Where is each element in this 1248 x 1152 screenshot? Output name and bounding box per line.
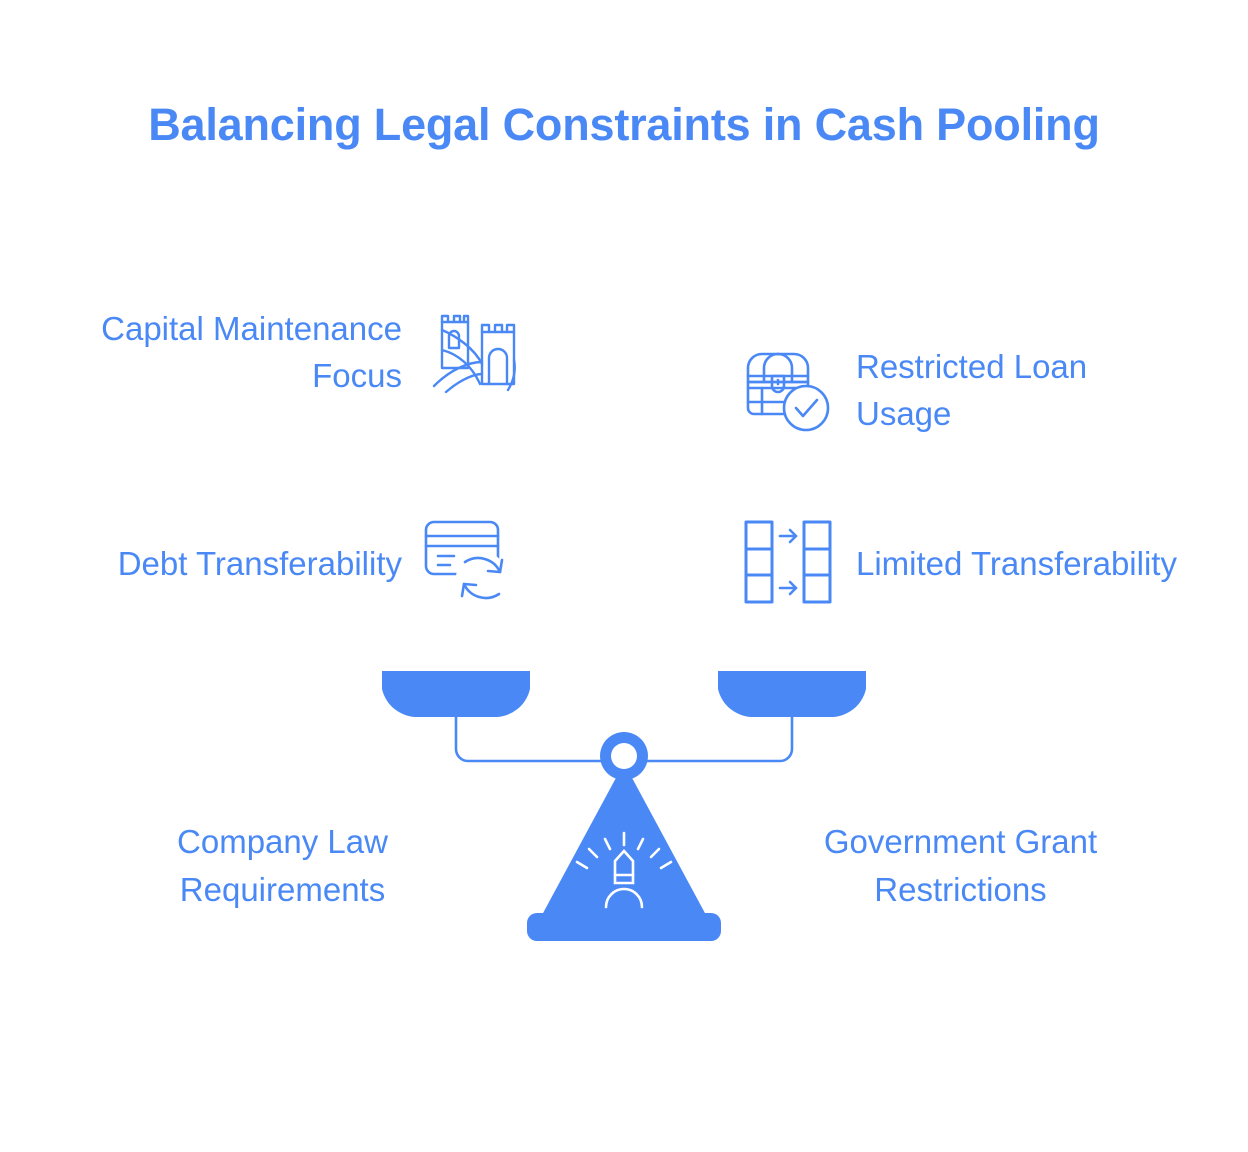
feature-label-capital-maintenance: Capital Maintenance Focus bbox=[100, 306, 402, 400]
feature-label-debt-transfer: Debt Transferability bbox=[118, 541, 402, 588]
feature-item-capital-maintenance: Capital Maintenance Focus bbox=[100, 300, 520, 405]
feature-item-restricted-loan: Restricted Loan Usage bbox=[738, 338, 1178, 443]
feature-label-limited-transfer: Limited Transferability bbox=[856, 541, 1177, 588]
page-title: Balancing Legal Constraints in Cash Pool… bbox=[0, 100, 1248, 150]
column-transfer-arrows-icon bbox=[738, 512, 838, 617]
castle-wall-icon bbox=[420, 300, 520, 405]
feature-item-limited-transfer: Limited Transferability bbox=[738, 512, 1178, 617]
infographic-canvas: Balancing Legal Constraints in Cash Pool… bbox=[0, 0, 1248, 1152]
treasure-chest-check-icon bbox=[738, 338, 838, 443]
feature-label-restricted-loan: Restricted Loan Usage bbox=[856, 344, 1178, 438]
credit-card-refresh-icon bbox=[420, 512, 520, 617]
feature-item-debt-transfer: Debt Transferability bbox=[100, 512, 520, 617]
scale-right-label: Government Grant Restrictions bbox=[768, 818, 1153, 914]
scale-left-label: Company Law Requirements bbox=[90, 818, 475, 914]
